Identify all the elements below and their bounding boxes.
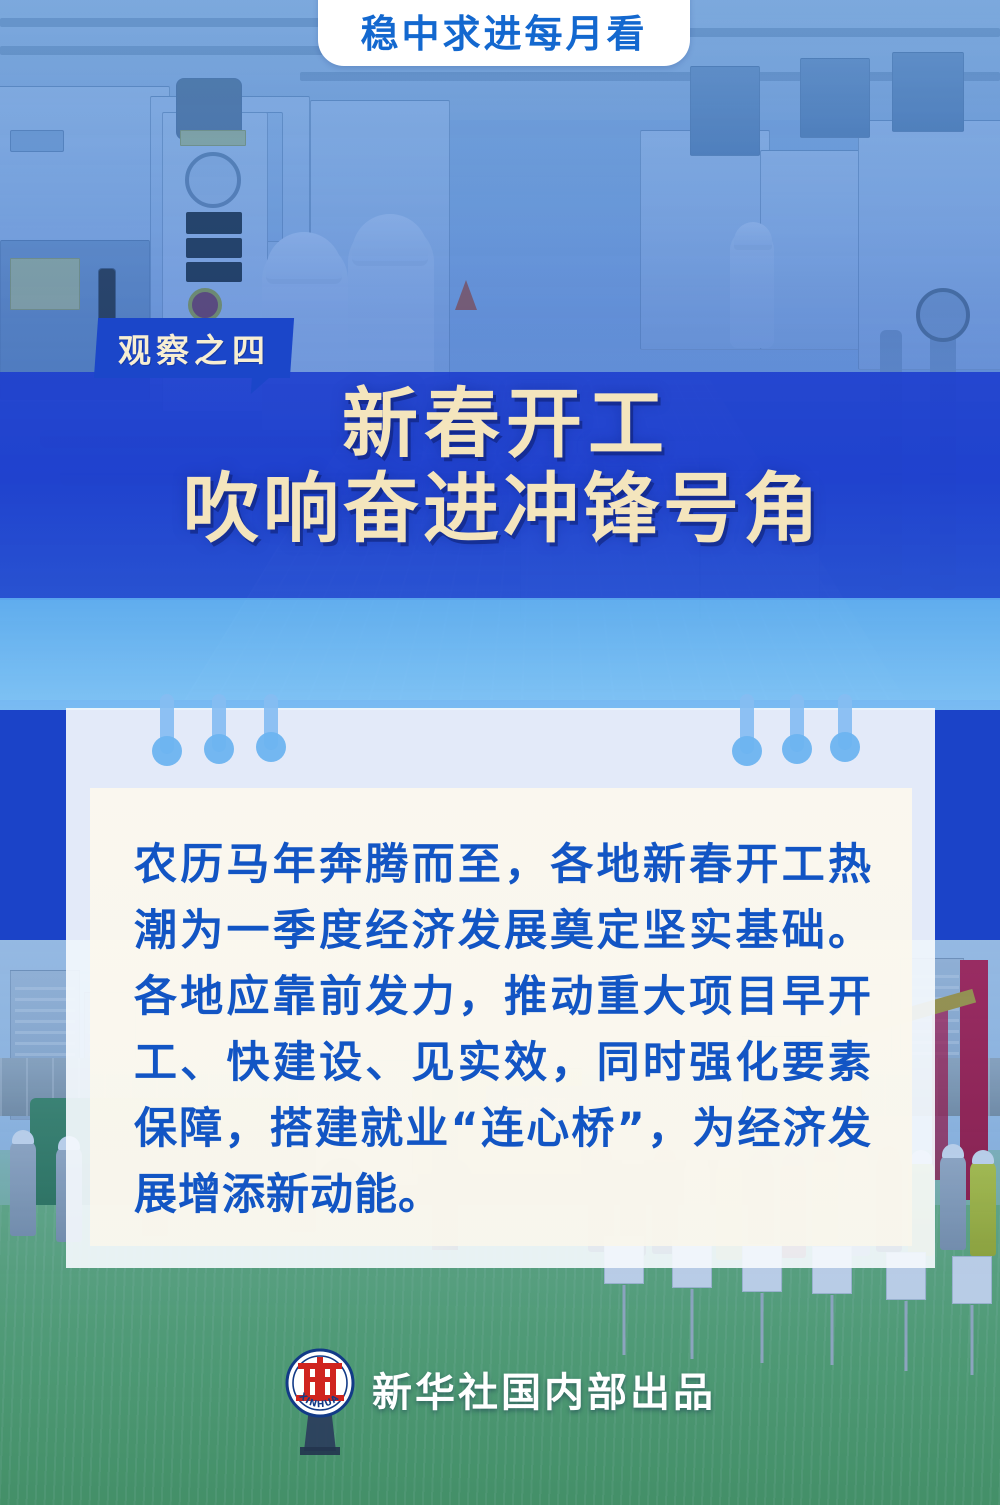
poster-root: 稳中求进每月看 观察之四 新春开工 吹响奋进冲锋号角 北京建工 [0,0,1000,1505]
body-paragraph: 农历马年奔腾而至，各地新春开工热潮为一季度经济发展奠定坚实基础。各地应靠前发力，… [134,832,872,1228]
xinhua-logo-icon: XINHUA [284,1347,356,1457]
decorative-pin [264,694,278,750]
observation-tag-label: 观察之四 [118,324,270,372]
footer: XINHUA 新华社国内部出品 [0,1347,1000,1457]
content-card: 农历马年奔腾而至，各地新春开工热潮为一季度经济发展奠定坚实基础。各地应靠前发力，… [90,788,912,1246]
decorative-pin-head [732,736,762,766]
title-line-1: 新春开工 [0,385,1000,463]
decorative-pin-head [782,734,812,764]
observation-tag: 观察之四 [94,318,294,378]
decorative-pin-head [152,736,182,766]
series-badge-label: 稳中求进每月看 [360,3,647,58]
decorative-pin [212,694,226,752]
page-title: 新春开工 吹响奋进冲锋号角 [0,385,1000,555]
decorative-pin-head [204,734,234,764]
decorative-pin [740,694,754,754]
decorative-pin [838,694,852,750]
mid-gradient-wash [0,598,1000,710]
footer-credit: 新华社国内部出品 [372,1360,716,1444]
decorative-pin-head [256,732,286,762]
decorative-pin [160,694,174,754]
decorative-pin [790,694,804,752]
xinhua-logo: XINHUA [284,1347,356,1457]
title-line-2: 吹响奋进冲锋号角 [0,463,1000,556]
decorative-pin-head [830,732,860,762]
series-badge: 稳中求进每月看 [318,0,690,66]
